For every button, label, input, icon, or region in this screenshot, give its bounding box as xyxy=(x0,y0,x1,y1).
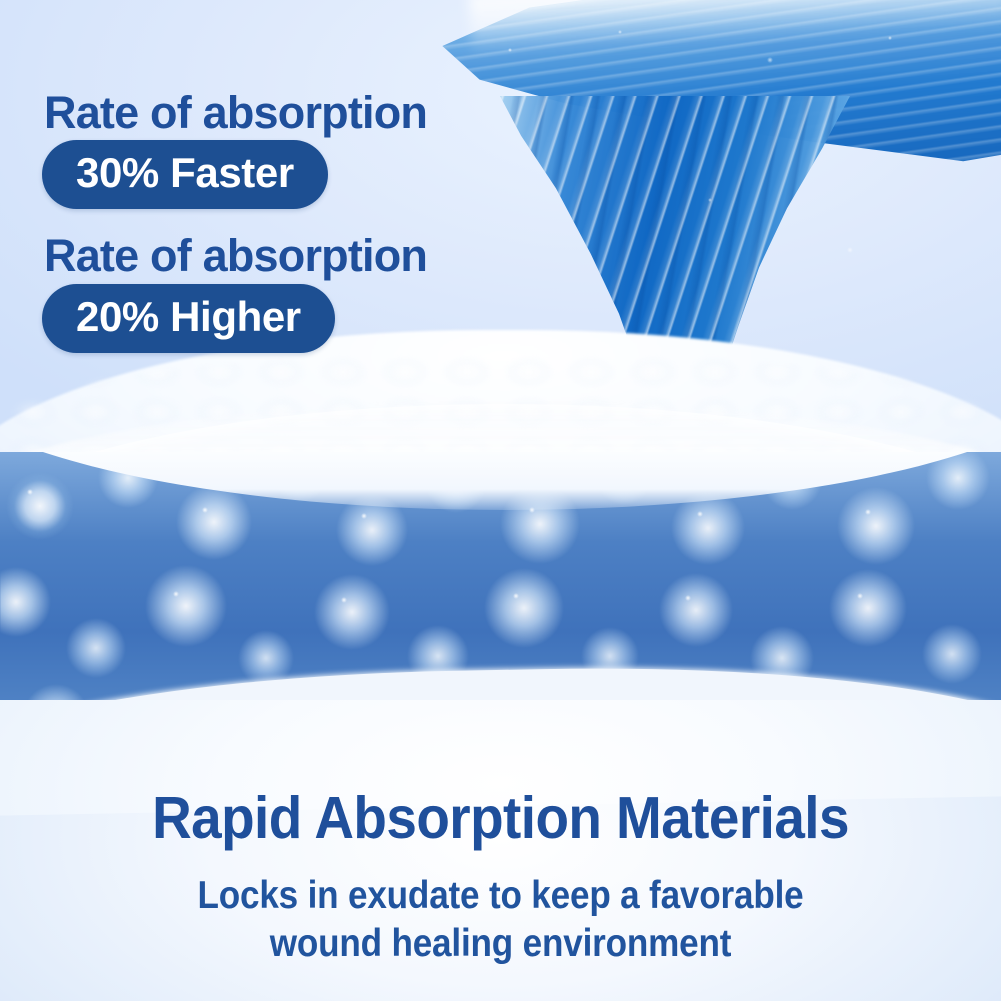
footer-headline: Rapid Absorption Materials xyxy=(35,788,966,848)
claim-badge-20-percent-higher: 20% Higher xyxy=(42,284,335,353)
footer-subline-line-1: Locks in exudate to keep a favorable xyxy=(50,872,951,920)
headline-block: Rapid Absorption Materials xyxy=(0,788,1001,848)
footer-subline-line-2: wound healing environment xyxy=(50,920,951,968)
claims-stack: Rate of absorption 30% Faster Rate of ab… xyxy=(42,88,427,353)
claim-item-absorption-speed: Rate of absorption 30% Faster xyxy=(42,88,427,209)
claim-badge-30-percent-faster: 30% Faster xyxy=(42,140,328,209)
water-droplets-icon xyxy=(470,20,990,320)
claim-item-absorption-capacity: Rate of absorption 20% Higher xyxy=(42,231,427,352)
footer-subline: Locks in exudate to keep a favorable wou… xyxy=(50,872,951,967)
product-feature-image: Rate of absorption 30% Faster Rate of ab… xyxy=(0,0,1001,1001)
subline-block: Locks in exudate to keep a favorable wou… xyxy=(0,872,1001,967)
claim-label-absorption-capacity: Rate of absorption xyxy=(44,231,427,281)
claim-label-absorption-speed: Rate of absorption xyxy=(44,88,427,138)
